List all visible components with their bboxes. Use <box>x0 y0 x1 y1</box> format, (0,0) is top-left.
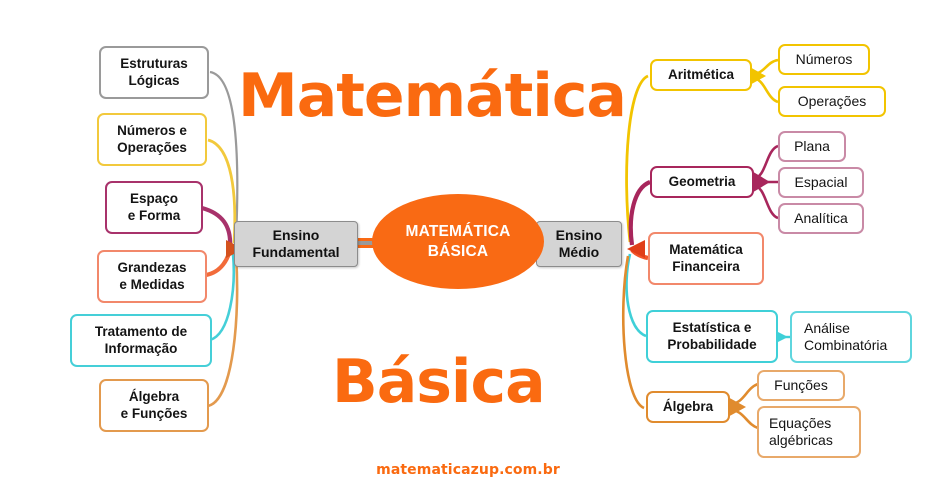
topic-algebra-e-funcoes[interactable]: Álgebra e Funções <box>99 379 209 432</box>
topic-grandezas-e-medidas-line2: e Medidas <box>119 277 184 292</box>
topic-numeros-e-operacoes[interactable]: Números e Operações <box>97 113 207 166</box>
subtopic-funcoes[interactable]: Funções <box>757 370 845 401</box>
topic-tratamento-de-informacao[interactable]: Tratamento de Informação <box>70 314 212 367</box>
topic-algebra[interactable]: Álgebra <box>646 391 730 423</box>
topic-estruturas-logicas[interactable]: Estruturas Lógicas <box>99 46 209 99</box>
mindmap-canvas: Matemática Básica <box>0 0 936 504</box>
topic-estruturas-logicas-line1: Estruturas <box>120 56 188 71</box>
branch-node-ensino-fundamental[interactable]: Ensino Fundamental <box>234 221 358 267</box>
subtopic-analise-combinatoria-line2: Combinatória <box>804 337 887 353</box>
subtopic-espacial[interactable]: Espacial <box>778 167 864 198</box>
subtopic-equacoes-algebricas-line1: Equações <box>769 415 831 431</box>
topic-espaco-e-forma-line2: e Forma <box>128 208 181 223</box>
topic-matematica-financeira-line2: Financeira <box>672 259 740 274</box>
subtopic-equacoes-algebricas[interactable]: Equações algébricas <box>757 406 861 458</box>
wordmark-basica: Básica <box>332 352 545 412</box>
central-node-matematica-basica[interactable]: MATEMÁTICA BÁSICA <box>372 194 544 289</box>
topic-algebra-e-funcoes-line1: Álgebra <box>129 389 179 404</box>
subtopic-numeros[interactable]: Números <box>778 44 870 75</box>
topic-matematica-financeira-line1: Matemática <box>669 242 743 257</box>
subtopic-plana[interactable]: Plana <box>778 131 846 162</box>
central-node-line2: BÁSICA <box>428 243 489 260</box>
topic-numeros-e-operacoes-line1: Números e <box>117 123 187 138</box>
branch-ensino-medio-line2: Médio <box>559 244 599 260</box>
topic-matematica-financeira[interactable]: Matemática Financeira <box>648 232 764 285</box>
subtopic-operacoes[interactable]: Operações <box>778 86 886 117</box>
central-node-line1: MATEMÁTICA <box>405 223 510 240</box>
subtopic-funcoes-label: Funções <box>774 377 828 394</box>
branch-ensino-fundamental-line1: Ensino <box>273 227 320 243</box>
topic-espaco-e-forma[interactable]: Espaço e Forma <box>105 181 203 234</box>
branch-node-ensino-medio[interactable]: Ensino Médio <box>536 221 622 267</box>
topic-grandezas-e-medidas[interactable]: Grandezas e Medidas <box>97 250 207 303</box>
topic-numeros-e-operacoes-line2: Operações <box>117 140 187 155</box>
topic-grandezas-e-medidas-line1: Grandezas <box>117 260 186 275</box>
wordmark-matematica: Matemática <box>238 66 626 126</box>
topic-tratamento-de-informacao-line1: Tratamento de <box>95 324 187 339</box>
topic-estatistica-e-probabilidade[interactable]: Estatística e Probabilidade <box>646 310 778 363</box>
topic-algebra-label: Álgebra <box>663 399 713 415</box>
subtopic-analitica[interactable]: Analítica <box>778 203 864 234</box>
site-watermark: matematicazup.com.br <box>0 462 936 478</box>
subtopic-espacial-label: Espacial <box>795 174 848 191</box>
topic-geometria[interactable]: Geometria <box>650 166 754 198</box>
branch-ensino-medio-line1: Ensino <box>556 227 603 243</box>
subtopic-numeros-label: Números <box>796 51 853 68</box>
subtopic-analitica-label: Analítica <box>794 210 848 227</box>
subtopic-plana-label: Plana <box>794 138 830 155</box>
topic-geometria-label: Geometria <box>669 174 736 190</box>
topic-estatistica-e-probabilidade-line1: Estatística e <box>673 320 752 335</box>
topic-estruturas-logicas-line2: Lógicas <box>128 73 179 88</box>
branch-ensino-fundamental-line2: Fundamental <box>252 244 339 260</box>
topic-aritmetica[interactable]: Aritmética <box>650 59 752 91</box>
topic-tratamento-de-informacao-line2: Informação <box>105 341 178 356</box>
topic-aritmetica-label: Aritmética <box>668 67 734 83</box>
subtopic-analise-combinatoria-line1: Análise <box>804 320 850 336</box>
topic-algebra-e-funcoes-line2: e Funções <box>121 406 188 421</box>
subtopic-operacoes-label: Operações <box>798 93 866 110</box>
topic-estatistica-e-probabilidade-line2: Probabilidade <box>667 337 756 352</box>
topic-espaco-e-forma-line1: Espaço <box>130 191 178 206</box>
subtopic-equacoes-algebricas-line2: algébricas <box>769 432 833 448</box>
subtopic-analise-combinatoria[interactable]: Análise Combinatória <box>790 311 912 363</box>
